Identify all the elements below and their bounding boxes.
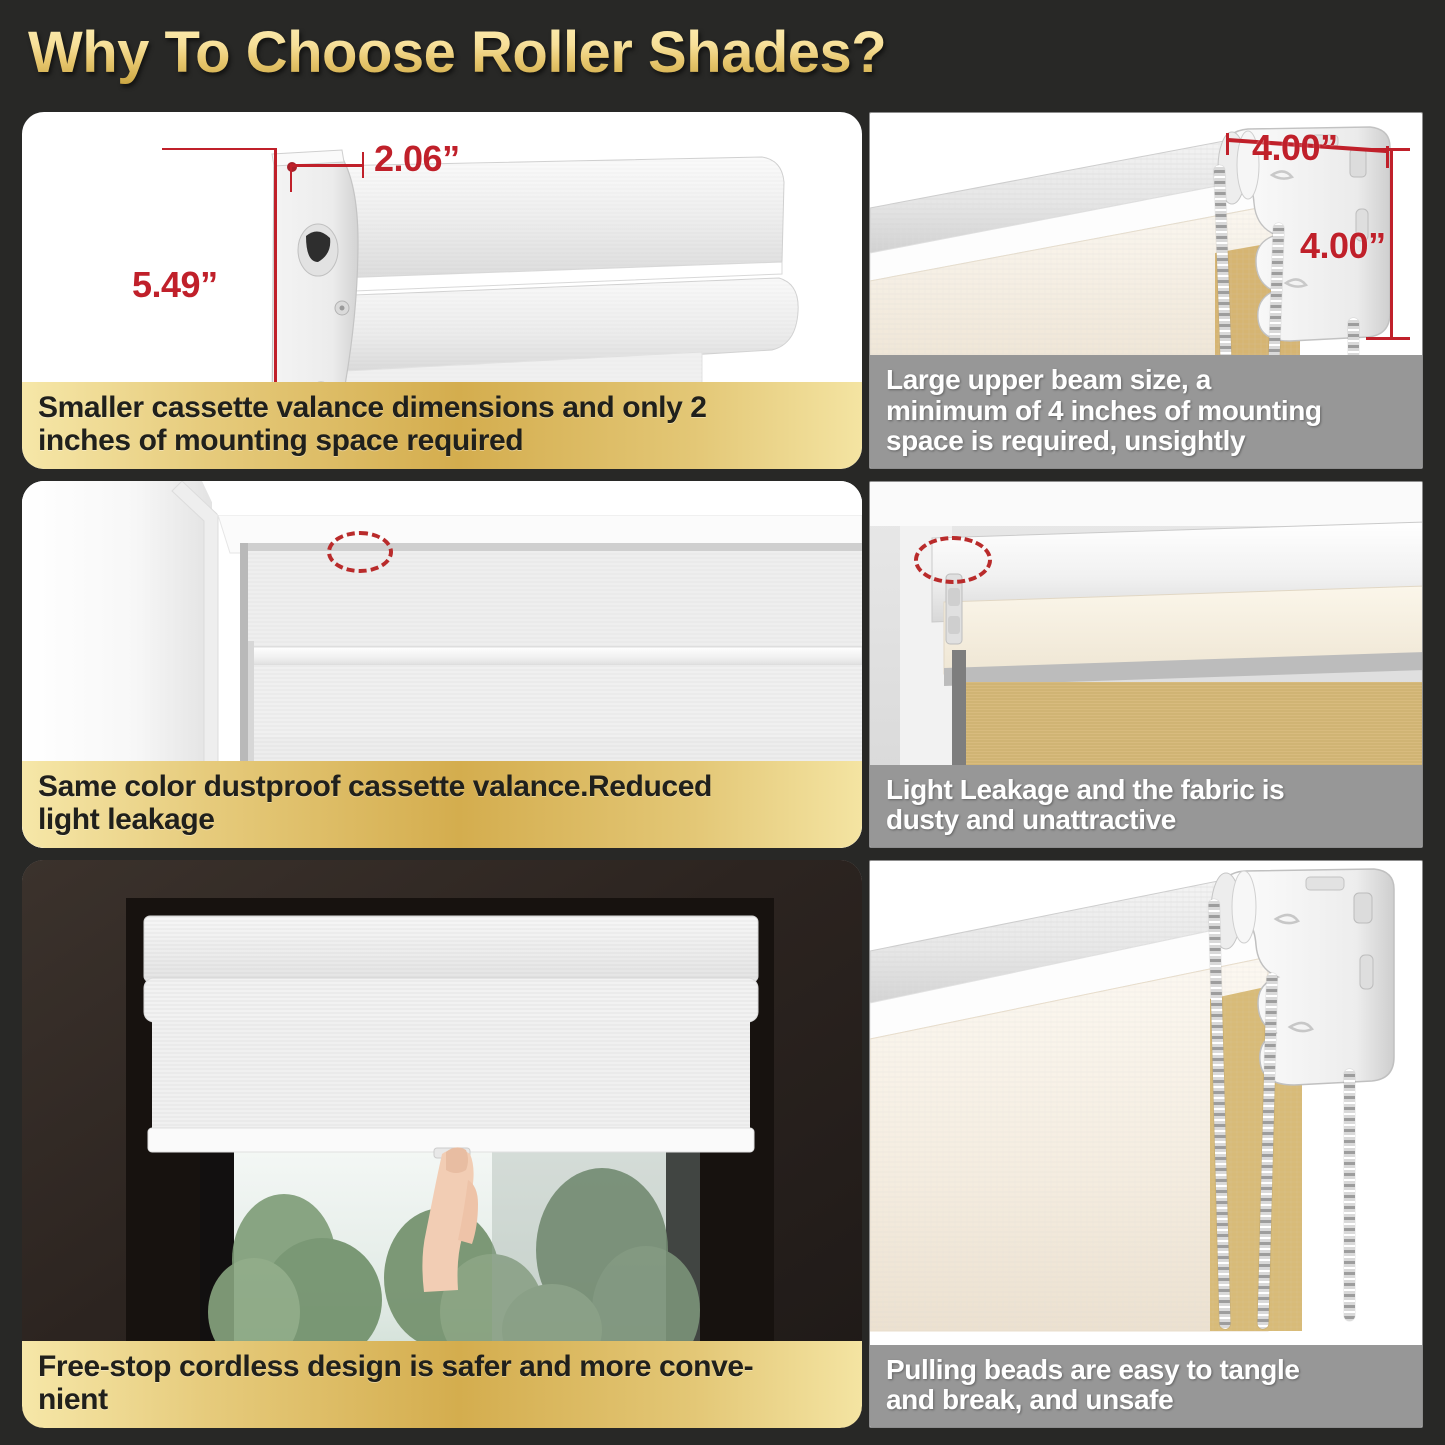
caption-line-2: minimum of 4 inches of mounting xyxy=(886,396,1408,426)
page-title: Why To Choose Roller Shades? xyxy=(28,19,886,86)
panel-cordless-design: Free-stop cordless design is safer and m… xyxy=(22,860,862,1428)
dimension-tick-width-left xyxy=(290,164,292,192)
dimension-tick-beam-width-left xyxy=(1226,133,1229,155)
dimension-label-height: 5.49” xyxy=(132,264,218,306)
caption-line-1: Large upper beam size, a xyxy=(886,365,1408,395)
panel-caption: Same color dustproof cassette valance.Re… xyxy=(22,761,862,848)
panel-large-gap: Large gap Light Leakage and the fabric i… xyxy=(869,481,1423,848)
page-header: Why To Choose Roller Shades? xyxy=(0,0,1445,104)
caption-line-2: inches of mounting space required xyxy=(38,425,848,457)
panel-pulling-beads: Pulling beads are easy to tangle and bre… xyxy=(869,860,1423,1428)
caption-line-1: Smaller cassette valance dimensions and … xyxy=(38,392,848,424)
bead-chain-tail xyxy=(1344,1069,1355,1321)
caption-line-2: dusty and unattractive xyxy=(886,805,1408,835)
panel-caption: Pulling beads are easy to tangle and bre… xyxy=(870,1345,1422,1427)
dimension-tick-height-top xyxy=(162,148,277,150)
panel-smaller-gap: smaller gap Same color dustproof cassett… xyxy=(22,481,862,848)
panel-caption: Light Leakage and the fabric is dusty an… xyxy=(870,765,1422,847)
dimension-label-width: 2.06” xyxy=(374,138,460,180)
caption-line-2: nient xyxy=(38,1384,848,1416)
dimension-label-beam-height: 4.00” xyxy=(1300,225,1386,267)
caption-line-1: Light Leakage and the fabric is xyxy=(886,775,1408,805)
caption-line-1: Free-stop cordless design is safer and m… xyxy=(38,1351,848,1383)
dimension-tick-beam-height-top xyxy=(1370,148,1410,151)
caption-line-3: space is required, unsightly xyxy=(886,426,1408,456)
panel-caption: Large upper beam size, a minimum of 4 in… xyxy=(870,355,1422,468)
panel-cassette-dimensions: 2.06” 5.49” Smaller cassette valance dim… xyxy=(22,112,862,469)
comparison-grid: 2.06” 5.49” Smaller cassette valance dim… xyxy=(22,112,1423,1424)
panel-large-upper-beam: 4.00” 4.00” Large upper beam size, a min… xyxy=(869,112,1423,469)
bead-roller-illustration xyxy=(870,861,1422,1427)
dimension-line-width xyxy=(290,164,364,167)
caption-line-1: Same color dustproof cassette valance.Re… xyxy=(38,771,848,803)
caption-line-1: Pulling beads are easy to tangle xyxy=(886,1355,1408,1385)
callout-ellipse xyxy=(327,531,393,573)
dimension-tick-width-right xyxy=(362,152,364,178)
dimension-label-beam-width: 4.00” xyxy=(1252,127,1338,169)
dimension-tick-beam-height-bottom xyxy=(1366,337,1410,340)
pulling-beads-photo xyxy=(870,861,1422,1427)
panel-caption: Free-stop cordless design is safer and m… xyxy=(22,1341,862,1428)
panel-caption: Smaller cassette valance dimensions and … xyxy=(22,382,862,469)
dimension-line-beam-height xyxy=(1390,148,1393,340)
caption-line-2: light leakage xyxy=(38,804,848,836)
caption-line-2: and break, and unsafe xyxy=(886,1385,1408,1415)
callout-ellipse xyxy=(914,536,992,584)
